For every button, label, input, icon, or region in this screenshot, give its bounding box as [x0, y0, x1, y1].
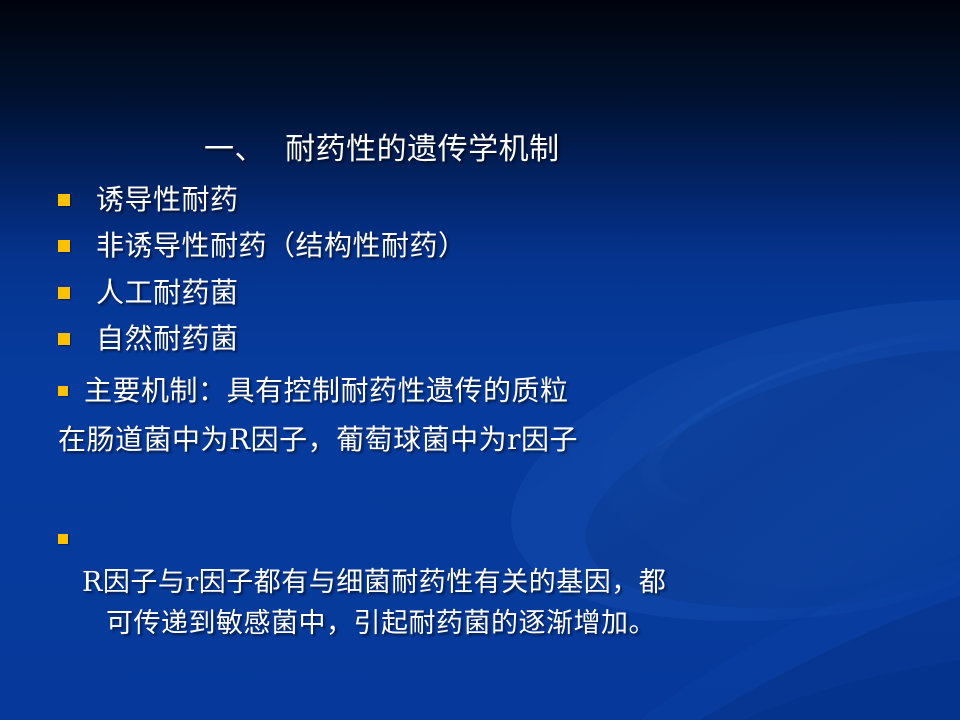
list-item: 主要机制：具有控制耐药性遗传的质粒	[58, 373, 569, 409]
presentation-slide: 一、 耐药性的遗传学机制 诱导性耐药 非诱导性耐药（结构性耐药） 人工耐药菌 自…	[0, 0, 960, 720]
list-item: 诱导性耐药	[58, 182, 239, 218]
continuation-line: 在肠道菌中为R因子，葡萄球菌中为r因子	[58, 422, 578, 458]
paragraph-text: R因子与r因子都有与细菌耐药性有关的基因，都 可传递到敏感菌中，引起耐药菌的逐渐…	[82, 521, 666, 685]
list-item: 自然耐药菌	[58, 321, 239, 357]
slide-title: 一、 耐药性的遗传学机制	[204, 131, 560, 169]
list-item-label: 主要机制：具有控制耐药性遗传的质粒	[84, 373, 569, 409]
paragraph-line-1: R因子与r因子都有与细菌耐药性有关的基因，都	[82, 567, 666, 598]
square-bullet-icon	[58, 287, 70, 299]
list-item-label: 非诱导性耐药（结构性耐药）	[96, 228, 467, 264]
list-item-paragraph: R因子与r因子都有与细菌耐药性有关的基因，都 可传递到敏感菌中，引起耐药菌的逐渐…	[58, 521, 903, 685]
paragraph-line-2: 可传递到敏感菌中，引起耐药菌的逐渐增加。	[106, 603, 666, 644]
list-item-label: 自然耐药菌	[96, 321, 239, 357]
list-item-label: 诱导性耐药	[96, 182, 239, 218]
square-bullet-icon	[58, 386, 68, 396]
square-bullet-icon	[58, 534, 68, 544]
list-item-label: 人工耐药菌	[96, 275, 239, 311]
list-item: 非诱导性耐药（结构性耐药）	[58, 228, 467, 264]
list-item: 人工耐药菌	[58, 275, 239, 311]
square-bullet-icon	[58, 240, 70, 252]
square-bullet-icon	[58, 194, 70, 206]
square-bullet-icon	[58, 333, 70, 345]
